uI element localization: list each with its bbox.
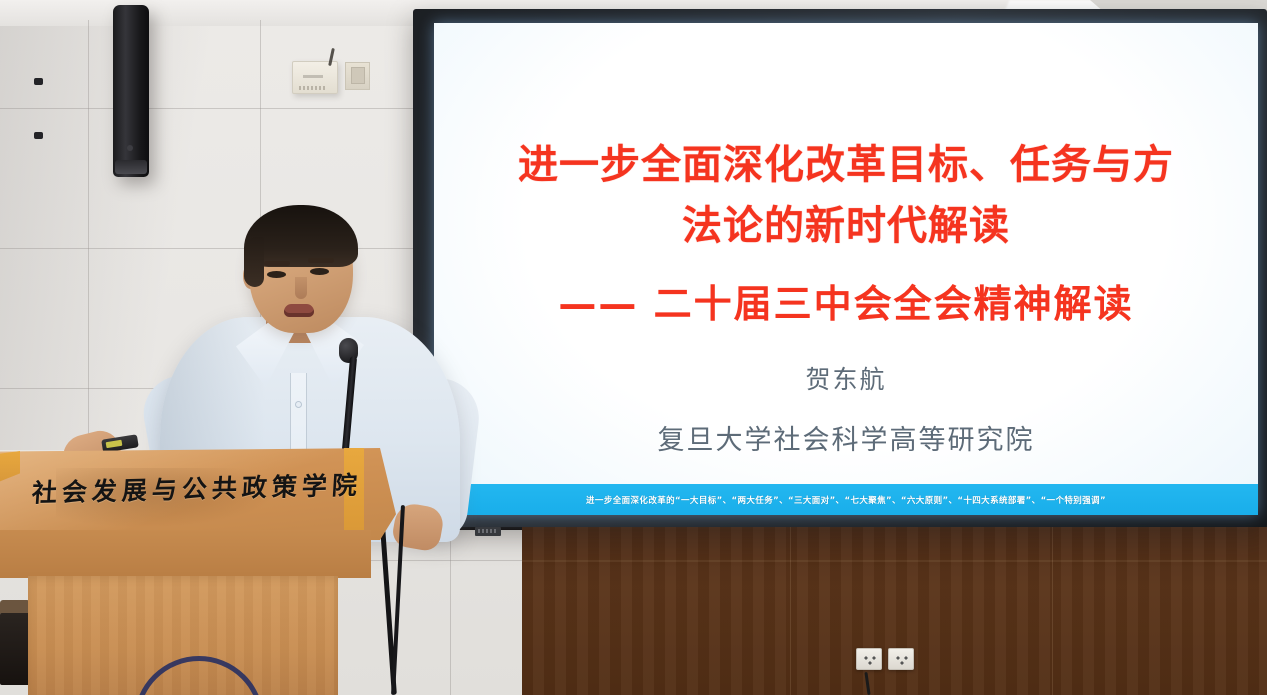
slide-content: 进一步全面深化改革目标、任务与方 法论的新时代解读 —— 二十届三中会全会精神解… <box>434 23 1258 515</box>
power-outlet-icon[interactable] <box>888 648 914 670</box>
wall-speaker-icon <box>113 5 149 177</box>
wall-seam <box>88 20 89 490</box>
power-outlet-icon[interactable] <box>856 648 882 670</box>
router-brand <box>303 75 323 78</box>
wood-seam <box>790 527 791 695</box>
shirt-button <box>295 401 302 408</box>
lecture-hall-scene: 进一步全面深化改革目标、任务与方 法论的新时代解读 —— 二十届三中会全会精神解… <box>0 0 1267 695</box>
slide-title: 进一步全面深化改革目标、任务与方 法论的新时代解读 <box>518 135 1174 257</box>
wireless-router-icon <box>292 61 338 94</box>
speaker-bracket <box>34 132 43 139</box>
switch-rocker[interactable] <box>351 67 365 84</box>
wall-seam <box>0 108 415 109</box>
presenter-eye <box>267 271 286 278</box>
presenter-hair-side <box>244 237 264 287</box>
presenter-nose <box>295 277 307 299</box>
presenter-mouth <box>284 304 314 317</box>
slide-title-line-1: 进一步全面深化改革目标、任务与方 <box>518 135 1174 196</box>
presenter-eye <box>310 268 329 275</box>
speaker-cap <box>115 160 147 174</box>
podium: 社会发展与公共政策学院 <box>0 448 416 695</box>
podium-front-face <box>0 530 371 578</box>
outlet-holes <box>895 655 909 665</box>
outlet-holes <box>863 655 877 665</box>
wall-switch-icon[interactable] <box>345 62 370 90</box>
podium-institution-text: 社会发展与公共政策学院 <box>31 466 333 509</box>
slide-author: 贺东航 <box>805 360 886 396</box>
presenter-eyebrow <box>308 258 334 263</box>
presentation-display[interactable]: 进一步全面深化改革目标、任务与方 法论的新时代解读 —— 二十届三中会全会精神解… <box>413 9 1267 527</box>
presenter-eyebrow <box>264 261 290 266</box>
speaker-logo <box>127 145 133 151</box>
wood-seam <box>1052 527 1053 695</box>
slide-subtitle: —— 二十届三中会全会精神解读 <box>558 273 1133 328</box>
router-leds <box>299 86 327 90</box>
display-screen: 进一步全面深化改革目标、任务与方 法论的新时代解读 —— 二十届三中会全会精神解… <box>434 23 1258 515</box>
slide-title-line-2: 法论的新时代解读 <box>518 196 1174 257</box>
speaker-bracket <box>34 78 43 85</box>
wood-band <box>522 560 1267 562</box>
slide-affiliation: 复旦大学社会科学高等研究院 <box>658 418 1035 457</box>
